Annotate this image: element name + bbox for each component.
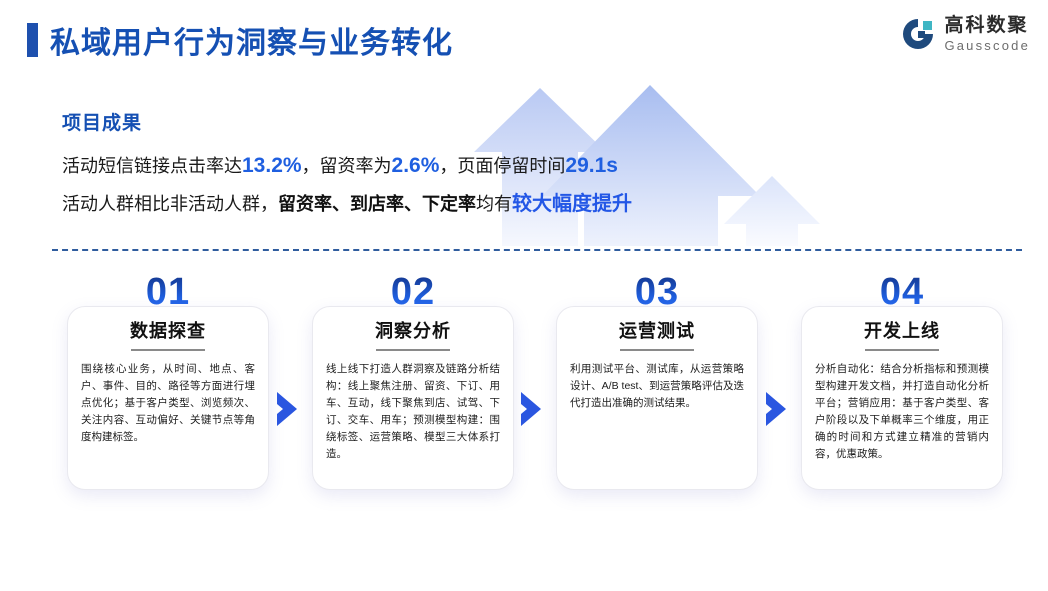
results-line2-bold-metrics: 留资率、到店率、下定率 xyxy=(278,194,476,214)
results-line1-part2: ，留资率为 xyxy=(302,156,392,176)
title-accent-bar xyxy=(27,23,38,57)
step-title: 运营测试 xyxy=(557,317,757,343)
step-card-1[interactable]: 01 数据探查 围绕核心业务，从时间、地点、客户、事件、目的、路径等方面进行埋点… xyxy=(67,306,269,490)
results-line-1: 活动短信链接点击率达13.2%，留资率为2.6%，页面停留时间29.1s xyxy=(62,155,702,176)
page-title: 私域用户行为洞察与业务转化 xyxy=(50,18,453,62)
step-body: 分析自动化：结合分析指标和预测模型构建开发文档，并打造自动化分析平台；营销应用：… xyxy=(815,361,989,463)
step-body: 利用测试平台、测试库，从运营策略设计、A/B test、到运营策略评估及迭代打造… xyxy=(570,361,744,412)
results-stat-lead-rate: 2.6% xyxy=(392,154,440,177)
results-line-2: 活动人群相比非活动人群，留资率、到店率、下定率均有较大幅度提升 xyxy=(62,194,702,214)
section-divider xyxy=(52,249,1022,251)
slide-header: 私域用户行为洞察与业务转化 高科数聚 Gausscode xyxy=(0,0,1048,82)
step-title-rule xyxy=(131,349,205,351)
results-line1-part3: ，页面停留时间 xyxy=(439,156,565,176)
chevron-right-icon-1 xyxy=(274,390,300,428)
step-number: 01 xyxy=(68,271,268,314)
results-line2-part1: 活动人群相比非活动人群， xyxy=(62,194,278,214)
chevron-right-icon-3 xyxy=(763,390,789,428)
step-card-4[interactable]: 04 开发上线 分析自动化：结合分析指标和预测模型构建开发文档，并打造自动化分析… xyxy=(801,306,1003,490)
step-title: 洞察分析 xyxy=(313,317,513,343)
results-line2-highlight: 较大幅度提升 xyxy=(512,193,632,215)
step-title-rule xyxy=(865,349,939,351)
results-stat-click-rate: 13.2% xyxy=(242,154,302,177)
step-card-3[interactable]: 03 运营测试 利用测试平台、测试库，从运营策略设计、A/B test、到运营策… xyxy=(556,306,758,490)
step-title-rule xyxy=(620,349,694,351)
step-body: 线上线下打造人群洞察及链路分析结构：线上聚焦注册、留资、下订、用车、互动，线下聚… xyxy=(326,361,500,463)
step-number: 02 xyxy=(313,271,513,314)
logo-english-name: Gausscode xyxy=(944,39,1030,52)
results-line2-part2: 均有 xyxy=(476,194,512,214)
up-arrow-shape-right xyxy=(724,176,820,246)
slide-root: 私域用户行为洞察与业务转化 高科数聚 Gausscode 项目成果 活动短信链接… xyxy=(0,0,1048,591)
step-number: 04 xyxy=(802,271,1002,314)
step-title: 数据探查 xyxy=(68,317,268,343)
step-number: 03 xyxy=(557,271,757,314)
step-title: 开发上线 xyxy=(802,317,1002,343)
brand-logo: 高科数聚 Gausscode xyxy=(901,16,1030,52)
logo-wordmark: 高科数聚 Gausscode xyxy=(944,16,1030,52)
step-title-rule xyxy=(376,349,450,351)
results-heading: 项目成果 xyxy=(62,108,702,135)
logo-chinese-name: 高科数聚 xyxy=(944,16,1030,35)
process-steps: 01 数据探查 围绕核心业务，从时间、地点、客户、事件、目的、路径等方面进行埋点… xyxy=(0,272,1048,532)
results-stat-dwell-time: 29.1s xyxy=(565,154,618,177)
chevron-right-icon-2 xyxy=(518,390,544,428)
step-card-2[interactable]: 02 洞察分析 线上线下打造人群洞察及链路分析结构：线上聚焦注册、留资、下订、用… xyxy=(312,306,514,490)
results-line1-part1: 活动短信链接点击率达 xyxy=(62,156,242,176)
project-results-block: 项目成果 活动短信链接点击率达13.2%，留资率为2.6%，页面停留时间29.1… xyxy=(62,108,702,232)
gausscode-logo-icon xyxy=(901,17,935,51)
step-body: 围绕核心业务，从时间、地点、客户、事件、目的、路径等方面进行埋点优化；基于客户类… xyxy=(81,361,255,446)
